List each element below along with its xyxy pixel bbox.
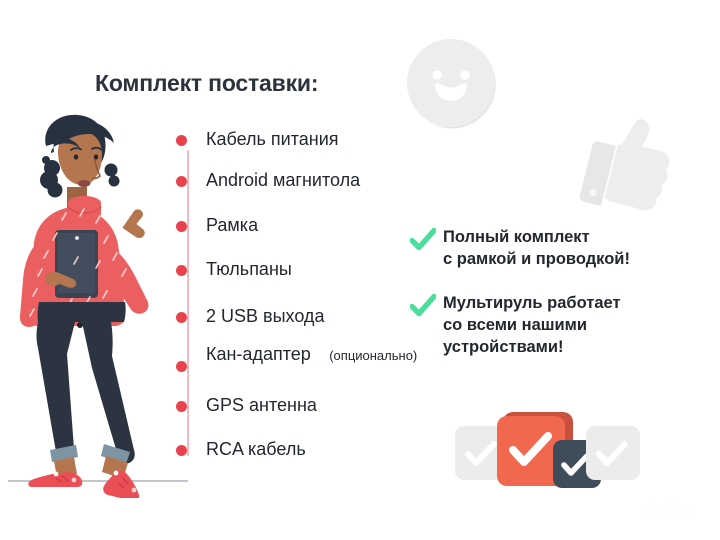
benefit-line: устройствами! (443, 338, 564, 356)
bullet-dot-icon (176, 221, 187, 232)
bullet-dot-icon (176, 401, 187, 412)
list-item: RCA кабель (176, 438, 306, 461)
list-item-label: 2 USB выхода (206, 306, 324, 326)
list-item-label: Рамка (206, 215, 258, 235)
avito-wordmark: Avito (644, 500, 693, 521)
thumbs-up-icon (572, 108, 690, 220)
benefit-line: с рамкой и проводкой! (443, 250, 630, 268)
green-check-icon (410, 228, 436, 252)
list-item: Android магнитола (176, 169, 360, 192)
list-item-label: Тюльпаны (206, 259, 292, 279)
benefit-item: Мультируль работает со всеми нашими устр… (410, 292, 621, 358)
avito-watermark: Avito (620, 500, 693, 521)
list-item-label: Кабель питания (206, 129, 339, 149)
benefit-line: Мультируль работает (443, 294, 621, 312)
list-item-note: (опционально) (329, 348, 417, 363)
avito-dots-icon (620, 500, 641, 521)
bullet-dot-icon (176, 176, 187, 187)
woman-pointing-with-tablet-illustration (8, 108, 188, 498)
list-item-label: RCA кабель (206, 439, 306, 459)
bullet-dot-icon (176, 445, 187, 456)
smiley-face-icon (404, 36, 498, 130)
checkbox-card-gray-right (586, 426, 640, 480)
benefit-item: Полный комплект с рамкой и проводкой! (410, 226, 630, 270)
page-title: Комплект поставки: (95, 70, 318, 97)
benefit-line: Полный комплект (443, 228, 590, 246)
bullet-dot-icon (176, 361, 187, 372)
benefit-line: со всеми нашими (443, 316, 587, 334)
list-item-label: GPS антенна (206, 395, 317, 415)
bullet-dot-icon (176, 135, 187, 146)
slide-canvas: Комплект поставки: Кабель питания Androi… (0, 0, 720, 540)
list-item: Тюльпаны (176, 258, 292, 281)
green-check-icon (410, 294, 436, 318)
list-item: Кабель питания (176, 128, 339, 151)
bullet-dot-icon (176, 265, 187, 276)
list-item: 2 USB выхода (176, 305, 324, 328)
list-item-label: Кан-адаптер (206, 344, 311, 364)
bullet-dot-icon (176, 312, 187, 323)
list-item: Кан-адаптер (опционально) (176, 343, 417, 372)
list-item: Рамка (176, 214, 258, 237)
list-item: GPS антенна (176, 394, 317, 417)
checkbox-cards-group (455, 404, 640, 496)
list-item-label: Android магнитола (206, 170, 360, 190)
